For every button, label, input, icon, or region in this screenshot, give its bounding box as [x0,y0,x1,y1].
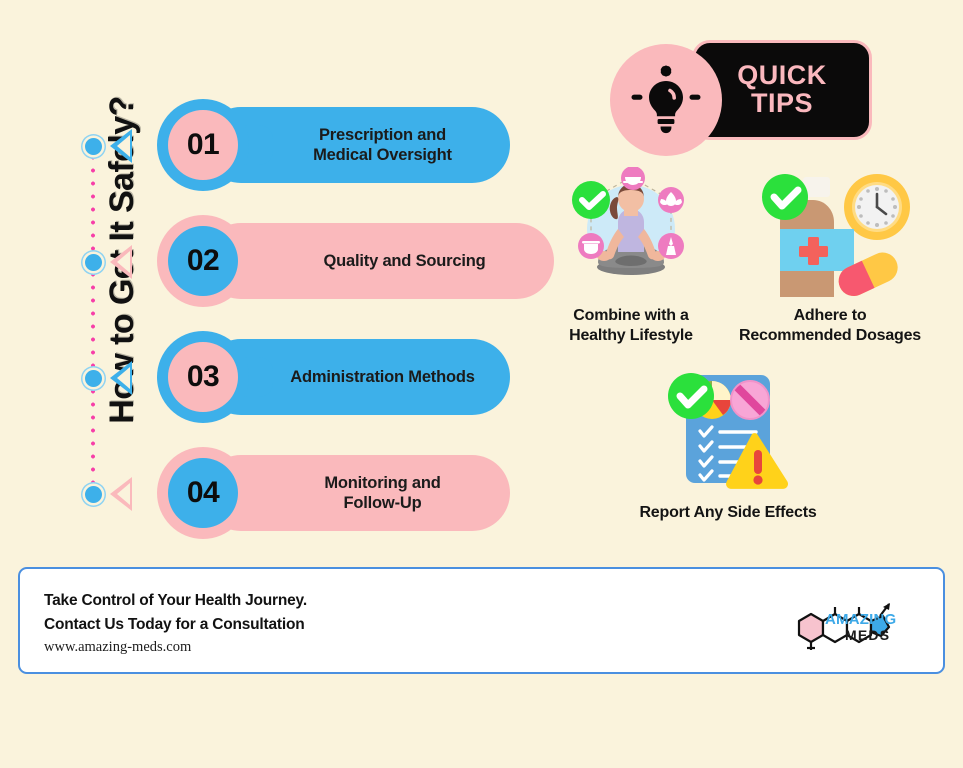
arrow-head-2 [110,245,132,279]
tip-caption-line2: Healthy Lifestyle [543,326,719,346]
rail-node-2 [85,254,102,271]
step-number-badge: 02 [157,215,249,307]
arrow-head-1 [110,129,132,163]
step-label-line2: Follow-Up [324,493,440,513]
quick-tips-badge: QUICK TIPS [610,40,872,140]
step-label-line2: Medical Oversight [313,145,452,165]
step-number: 04 [187,476,219,510]
tip-caption: Report Any Side Effects [630,503,826,523]
step-label-line1: Monitoring and [324,473,440,493]
step-number-badge: 03 [157,331,249,423]
arrow-head-4 [110,477,132,511]
footer-cta-bar: Take Control of Your Health Journey. Con… [18,567,945,674]
medicine-bottle-clock-icon [748,167,913,302]
timeline-rail [90,138,96,496]
step-number-badge: 01 [157,99,249,191]
tip-caption-line1: Adhere to [720,306,940,326]
step-number: 01 [187,128,219,162]
quick-tips-line1: QUICK [737,62,827,90]
tip-item-report-side-effects[interactable]: Report Any Side Effects [630,367,826,523]
tip-caption-line2: Recommended Dosages [720,326,940,346]
dotted-connector-line [91,138,95,496]
step-number: 02 [187,244,219,278]
infographic-canvas: How to Get It Safely? Prescription and M… [0,0,963,768]
footer-line2: Contact Us Today for a Consultation [44,613,307,637]
tip-caption-line1: Combine with a [543,306,719,326]
quick-tips-line2: TIPS [737,90,827,118]
logo-name-bottom: MEDS [845,627,890,643]
footer-website[interactable]: www.amazing-meds.com [44,639,307,656]
lightbulb-icon [610,44,722,156]
footer-line1: Take Control of Your Health Journey. [44,589,307,613]
arrow-head-3 [110,361,132,395]
step-label-line1: Quality and Sourcing [324,251,486,271]
rail-node-3 [85,370,102,387]
clipboard-warning-icon [658,367,798,499]
step-number-badge: 04 [157,447,249,539]
logo-name-top: AMAZING [825,611,896,628]
tip-caption: Combine with a Healthy Lifestyle [543,306,719,346]
step-label-line1: Prescription and [313,125,452,145]
tip-item-adhere-dosages[interactable]: Adhere to Recommended Dosages [720,167,940,346]
brand-logo[interactable]: AMAZING MEDS [783,591,903,653]
tip-caption: Adhere to Recommended Dosages [720,306,940,346]
healthy-lifestyle-yoga-icon [555,167,707,302]
rail-node-1 [85,138,102,155]
tip-item-healthy-lifestyle[interactable]: Combine with a Healthy Lifestyle [543,167,719,346]
step-number: 03 [187,360,219,394]
tip-caption-line1: Report Any Side Effects [630,503,826,523]
step-label-line1: Administration Methods [290,367,474,387]
rail-node-4 [85,486,102,503]
